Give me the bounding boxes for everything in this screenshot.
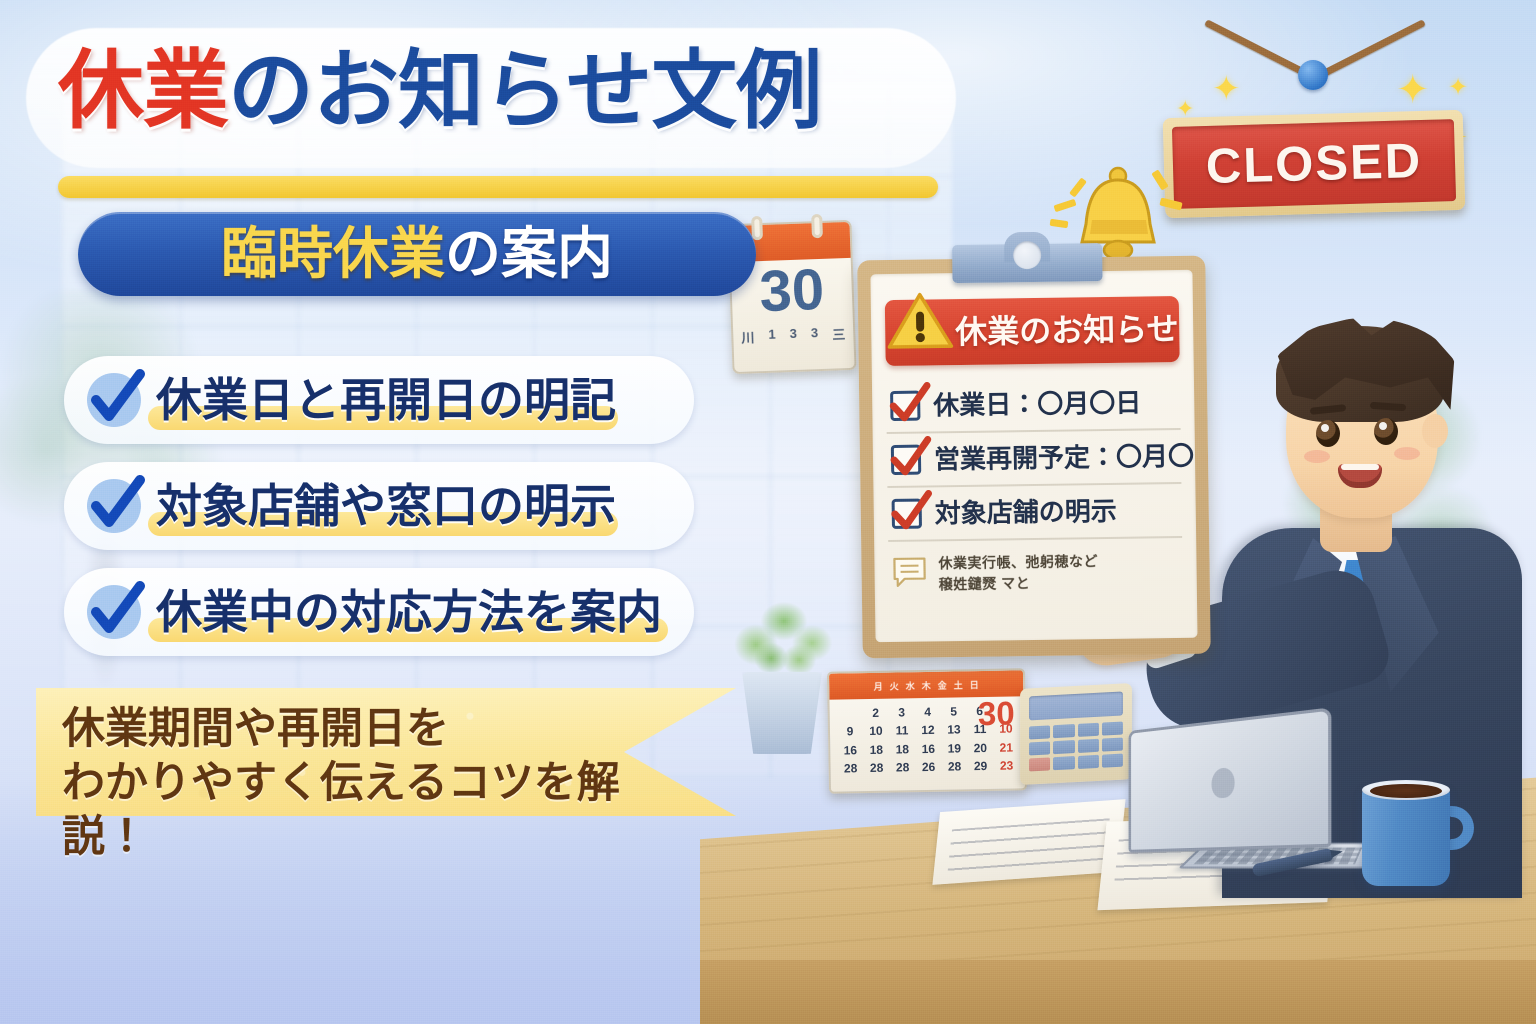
subtitle-text: 臨時休業の案内	[221, 226, 613, 282]
checklist-item-label: 対象店舗や窓口の明示	[156, 483, 616, 529]
calendar-date-cell: 16	[838, 742, 862, 760]
calendar-date-cell: 2	[864, 705, 888, 723]
calculator-key	[1053, 740, 1074, 754]
calendar-date-cell: 29	[968, 758, 992, 776]
calendar-date-cell: 19	[942, 740, 966, 758]
weekday-mark: 木	[922, 678, 931, 691]
calendar-date-cell: 28	[890, 759, 914, 777]
closed-sign-label: CLOSED	[1205, 136, 1422, 191]
clipboard-note-text: 休業実行帳、弛躬穂など 穣姓鑓燹 マと	[938, 551, 1098, 595]
calendar-date-cell: 4	[916, 704, 940, 722]
calendar-date-cell: 9	[838, 724, 862, 742]
weekday-mark: 水	[906, 679, 915, 692]
calendar-date-cell: 28	[865, 760, 889, 778]
blue-check-circle-icon	[82, 580, 146, 644]
subtitle-pill: 臨時休業の案内	[78, 212, 756, 296]
note-bubble-icon	[892, 557, 926, 587]
desk-calendar-body: 月 火 水 木 金 土 日 23456910111213111016181816…	[827, 668, 1027, 793]
calendar-date-cell: 3	[890, 704, 914, 722]
title-blue-segment: のお知らせ文例	[228, 43, 821, 139]
checklist-item-label: 休業日と再開日の明記	[156, 377, 616, 423]
calendar-date-cell: 28	[839, 760, 863, 778]
paper-text-lines	[947, 818, 1109, 873]
calendar-date-cell: 5	[942, 703, 966, 721]
eye-right	[1374, 418, 1398, 445]
calculator-key	[1029, 741, 1050, 755]
eye-left	[1316, 420, 1340, 447]
laptop-logo	[1212, 767, 1235, 799]
weekday-mark: 月	[874, 679, 883, 692]
mug-body	[1362, 786, 1450, 886]
clipboard-clip-icon	[952, 243, 1103, 283]
blue-check-circle-icon	[82, 368, 146, 432]
blush-left	[1304, 450, 1330, 463]
calendar-date-cell: 21	[994, 739, 1018, 757]
calendar-date-cell: 12	[916, 722, 940, 740]
calculator-key	[1077, 755, 1098, 769]
closed-sign-plate: CLOSED	[1163, 110, 1466, 218]
coffee-surface	[1370, 784, 1442, 798]
calendar-date-cell: 23	[994, 758, 1018, 776]
sparkle-icon: ✦	[1396, 70, 1430, 110]
calendar-date-cell: 13	[942, 722, 966, 740]
calendar-date-cell: 28	[942, 758, 966, 776]
weekday-mark: 日	[970, 678, 979, 691]
calendar-date-cell	[838, 705, 862, 723]
blush-right	[1394, 447, 1420, 460]
weekday-mark: 金	[938, 678, 947, 691]
calendar-date-cell: 26	[916, 759, 940, 777]
subtitle-white-segment: の案内	[445, 222, 613, 285]
sparkle-icon: ✦	[1212, 72, 1241, 106]
sublabel: 三	[832, 324, 846, 343]
hanging-closed-sign-icon: ✦ ✦ ✦ ✦ ✦ CLOSED	[1148, 58, 1478, 218]
desk-calendar-highlight: 30	[978, 696, 1015, 730]
ribbon-caption: 休業期間や再開日を わかりやすく伝えるコツを解説！	[62, 702, 682, 865]
sublabel: 3	[789, 326, 797, 345]
desk-front-edge	[700, 960, 1536, 1024]
sublabel: 3	[811, 325, 819, 344]
calendar-date-cell: 20	[968, 740, 992, 758]
calculator-key	[1077, 739, 1098, 753]
clipboard-item-label: 休業日：〇月〇日	[933, 389, 1141, 418]
calendar-date-cell: 16	[916, 741, 940, 759]
checklist-item: 休業中の対応方法を案内	[64, 568, 694, 656]
red-check-box-icon	[891, 445, 921, 475]
gold-underline-bar	[58, 176, 938, 198]
calendar-date-cell: 11	[890, 723, 914, 741]
checklist-item: 対象店舗や窓口の明示	[64, 462, 694, 550]
clipboard-item-label: 対象店舗の明示	[935, 498, 1117, 527]
laptop-icon	[1100, 720, 1370, 890]
red-check-box-icon	[892, 499, 922, 529]
ear	[1422, 414, 1448, 448]
calculator-key	[1053, 756, 1074, 770]
red-check-box-icon	[890, 391, 920, 421]
calendar-date-cell: 18	[864, 741, 888, 759]
checklist-item-label: 休業中の対応方法を案内	[156, 589, 662, 635]
clipboard-item: 対象店舗の明示	[887, 484, 1182, 542]
warning-triangle-icon	[887, 291, 954, 352]
clipboard-notice: 休業のお知らせ 休業日：〇月〇日	[857, 256, 1211, 659]
blue-check-circle-icon	[82, 474, 146, 538]
clipboard-item: 営業再開予定：〇月〇日	[887, 430, 1182, 488]
clipboard-item: 休業日：〇月〇日	[886, 376, 1181, 434]
thumbnail-canvas: ✦ ✦ ✦ ✦ ✦ CLOSED	[0, 0, 1536, 1024]
title-red-segment: 休業	[58, 43, 228, 139]
clipboard-header-banner: 休業のお知らせ	[885, 296, 1180, 366]
clipboard-header-label: 休業のお知らせ	[955, 313, 1179, 348]
calendar-date-cell: 10	[864, 723, 888, 741]
calculator-key	[1029, 757, 1050, 771]
desk-calendar-icon: 月 火 水 木 金 土 日 23456910111213111016181816…	[827, 668, 1027, 793]
weekday-mark: 土	[954, 678, 963, 691]
calculator-key	[1053, 724, 1074, 738]
coffee-mug-icon	[1362, 778, 1472, 890]
page-title: 休業のお知らせ文例	[58, 48, 958, 134]
document-sheet-icon	[932, 799, 1125, 885]
subtitle-gold-segment: 臨時休業	[221, 222, 445, 285]
checklist-item: 休業日と再開日の明記	[64, 356, 694, 444]
headline-area: 休業のお知らせ文例 臨時休業の案内 休業日と再開日の明記	[0, 0, 790, 1024]
calendar-ring	[811, 214, 823, 238]
calculator-key	[1029, 725, 1050, 739]
laptop-lid	[1129, 707, 1332, 852]
clipboard-note: 休業実行帳、弛躬穂など 穣姓鑓燹 マと	[888, 550, 1183, 596]
calendar-date-cell: 18	[890, 741, 914, 759]
clipboard-paper: 休業のお知らせ 休業日：〇月〇日	[870, 270, 1197, 642]
clipboard-item-label: 営業再開予定：〇月〇日	[934, 442, 1198, 472]
sign-hook-knob-icon	[1298, 60, 1328, 90]
closed-sign-face: CLOSED	[1172, 119, 1456, 209]
calculator-key	[1077, 723, 1098, 737]
weekday-mark: 火	[890, 679, 899, 692]
sparkle-icon: ✦	[1448, 76, 1468, 100]
calculator-screen	[1029, 691, 1123, 720]
